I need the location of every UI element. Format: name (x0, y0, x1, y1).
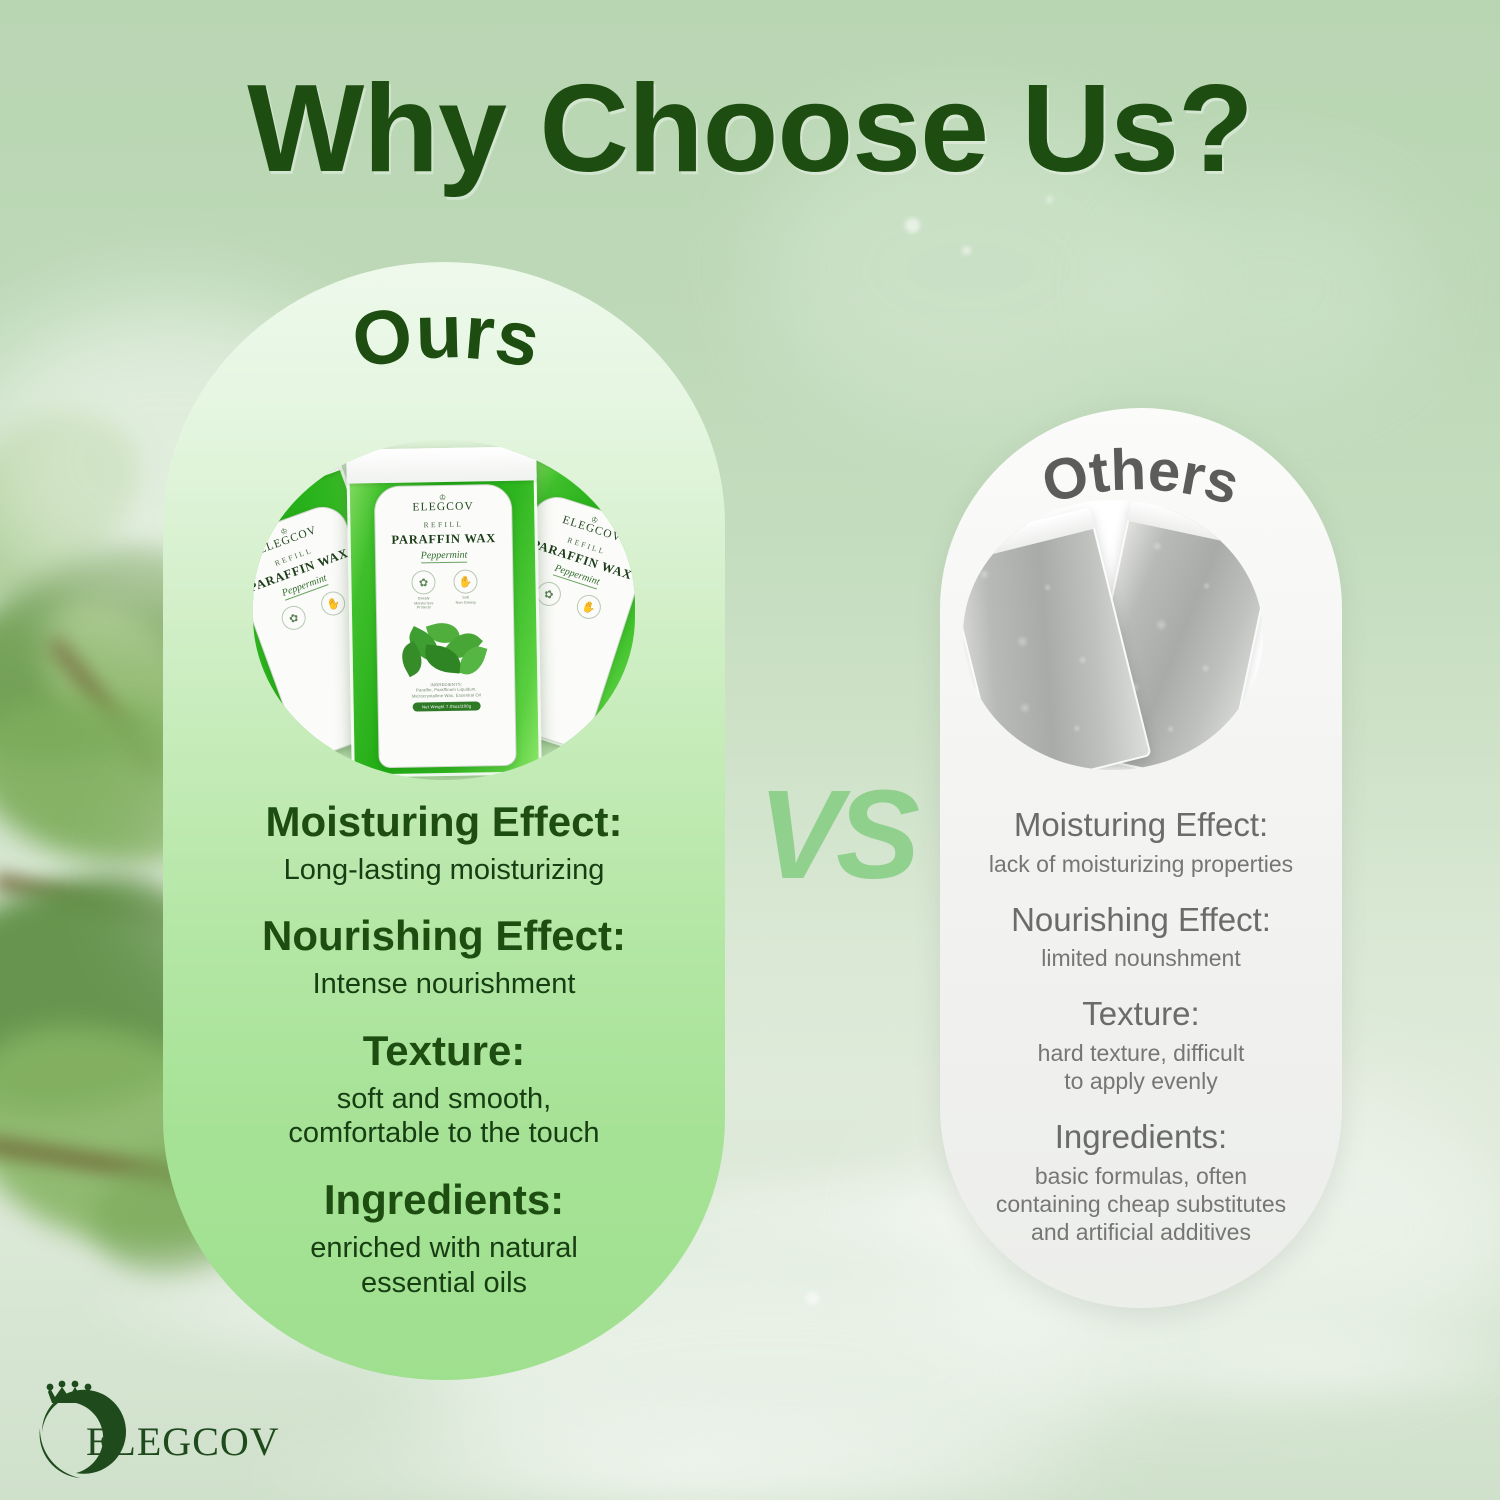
feature-heading: Ingredients: (935, 1120, 1347, 1155)
product-ingredients: INGREDIENTS:Paraffin, Paraffinum Liquidu… (406, 681, 487, 699)
others-label: Others (0, 428, 1500, 533)
ours-label: Ours (0, 290, 1500, 405)
product-net-weight: Net Weight 7.05oz/200g (413, 701, 480, 711)
feature-item: Texture: hard texture, difficultto apply… (935, 997, 1347, 1095)
moisturize-drop-icon: ✿ (278, 602, 309, 633)
mint-leaves-illustration (390, 615, 501, 679)
ours-feature-list: Moisturing Effect: Long-lasting moisturi… (173, 800, 715, 1327)
feature-item: Ingredients: enriched with naturalessent… (173, 1178, 715, 1300)
moisturize-drop-icon: ✿ (411, 570, 435, 594)
others-product-image (963, 500, 1263, 770)
feature-item: Texture: soft and smooth,comfortable to … (173, 1029, 715, 1151)
wax-texture (963, 521, 1141, 770)
feature-heading: Texture: (173, 1029, 715, 1073)
bubble-icon (962, 246, 971, 255)
benefit-icon-row: ✿ Deeply MoisturizesProtects ✋ SoftNon-G… (410, 569, 480, 610)
benefit-icon-caption: Deeply MoisturizesProtects (410, 596, 437, 610)
feature-heading: Moisturing Effect: (173, 800, 715, 844)
benefit-icon-caption: SoftNon-Greasy (452, 595, 479, 605)
svg-text:Others: Others (1036, 437, 1246, 517)
feature-item: Moisturing Effect: Long-lasting moisturi… (173, 800, 715, 887)
feature-heading: Nourishing Effect: (173, 914, 715, 958)
feature-description: soft and smooth,comfortable to the touch (173, 1082, 715, 1152)
feature-description: Long-lasting moisturizing (173, 853, 715, 888)
feature-description: limited nounshment (935, 944, 1347, 972)
feature-item: Ingredients: basic formulas, oftencontai… (935, 1120, 1347, 1246)
logo-wordmark: ELEGCOV (86, 1418, 280, 1465)
feature-description: Intense nourishment (173, 967, 715, 1002)
feature-item: Moisturing Effect: lack of moisturizing … (935, 808, 1347, 878)
feature-item: Nourishing Effect: limited nounshment (935, 903, 1347, 973)
feature-heading: Moisturing Effect: (935, 808, 1347, 843)
feature-description: hard texture, difficultto apply evenly (935, 1039, 1347, 1095)
benefit-icon-item: ✿ Deeply MoisturizesProtects (410, 570, 438, 610)
others-feature-list: Moisturing Effect: lack of moisturizing … (935, 808, 1347, 1271)
feature-heading: Ingredients: (173, 1178, 715, 1222)
bubble-icon (905, 218, 920, 233)
page-title: Why Choose Us? (0, 58, 1500, 200)
feature-heading: Nourishing Effect: (935, 903, 1347, 938)
feature-description: enriched with naturalessential oils (173, 1231, 715, 1301)
others-label-text: Others (1036, 437, 1246, 517)
benefit-icon-item: ✿ (277, 602, 311, 636)
soft-hand-icon: ✋ (574, 592, 604, 622)
benefit-icon-item: ✋ SoftNon-Greasy (452, 569, 480, 609)
feature-description: lack of moisturizing properties (935, 850, 1347, 878)
bubble-icon (806, 1292, 819, 1305)
ours-label-text: Ours (346, 289, 547, 385)
product-scent: Peppermint (421, 550, 468, 564)
brand-logo: ELEGCOV (30, 1378, 270, 1486)
product-name: PARAFFIN WAX (391, 531, 496, 548)
benefit-icon-item: ✋ (572, 591, 606, 624)
soft-hand-icon: ✋ (453, 569, 477, 593)
feature-heading: Texture: (935, 997, 1347, 1032)
feature-description: basic formulas, oftencontaining cheap su… (935, 1162, 1347, 1246)
svg-text:Ours: Ours (346, 289, 547, 385)
benefit-icon-item: ✋ (316, 588, 350, 622)
vs-divider: VS (758, 772, 914, 898)
feature-item: Nourishing Effect: Intense nourishment (173, 914, 715, 1001)
soft-hand-icon: ✋ (318, 588, 349, 619)
